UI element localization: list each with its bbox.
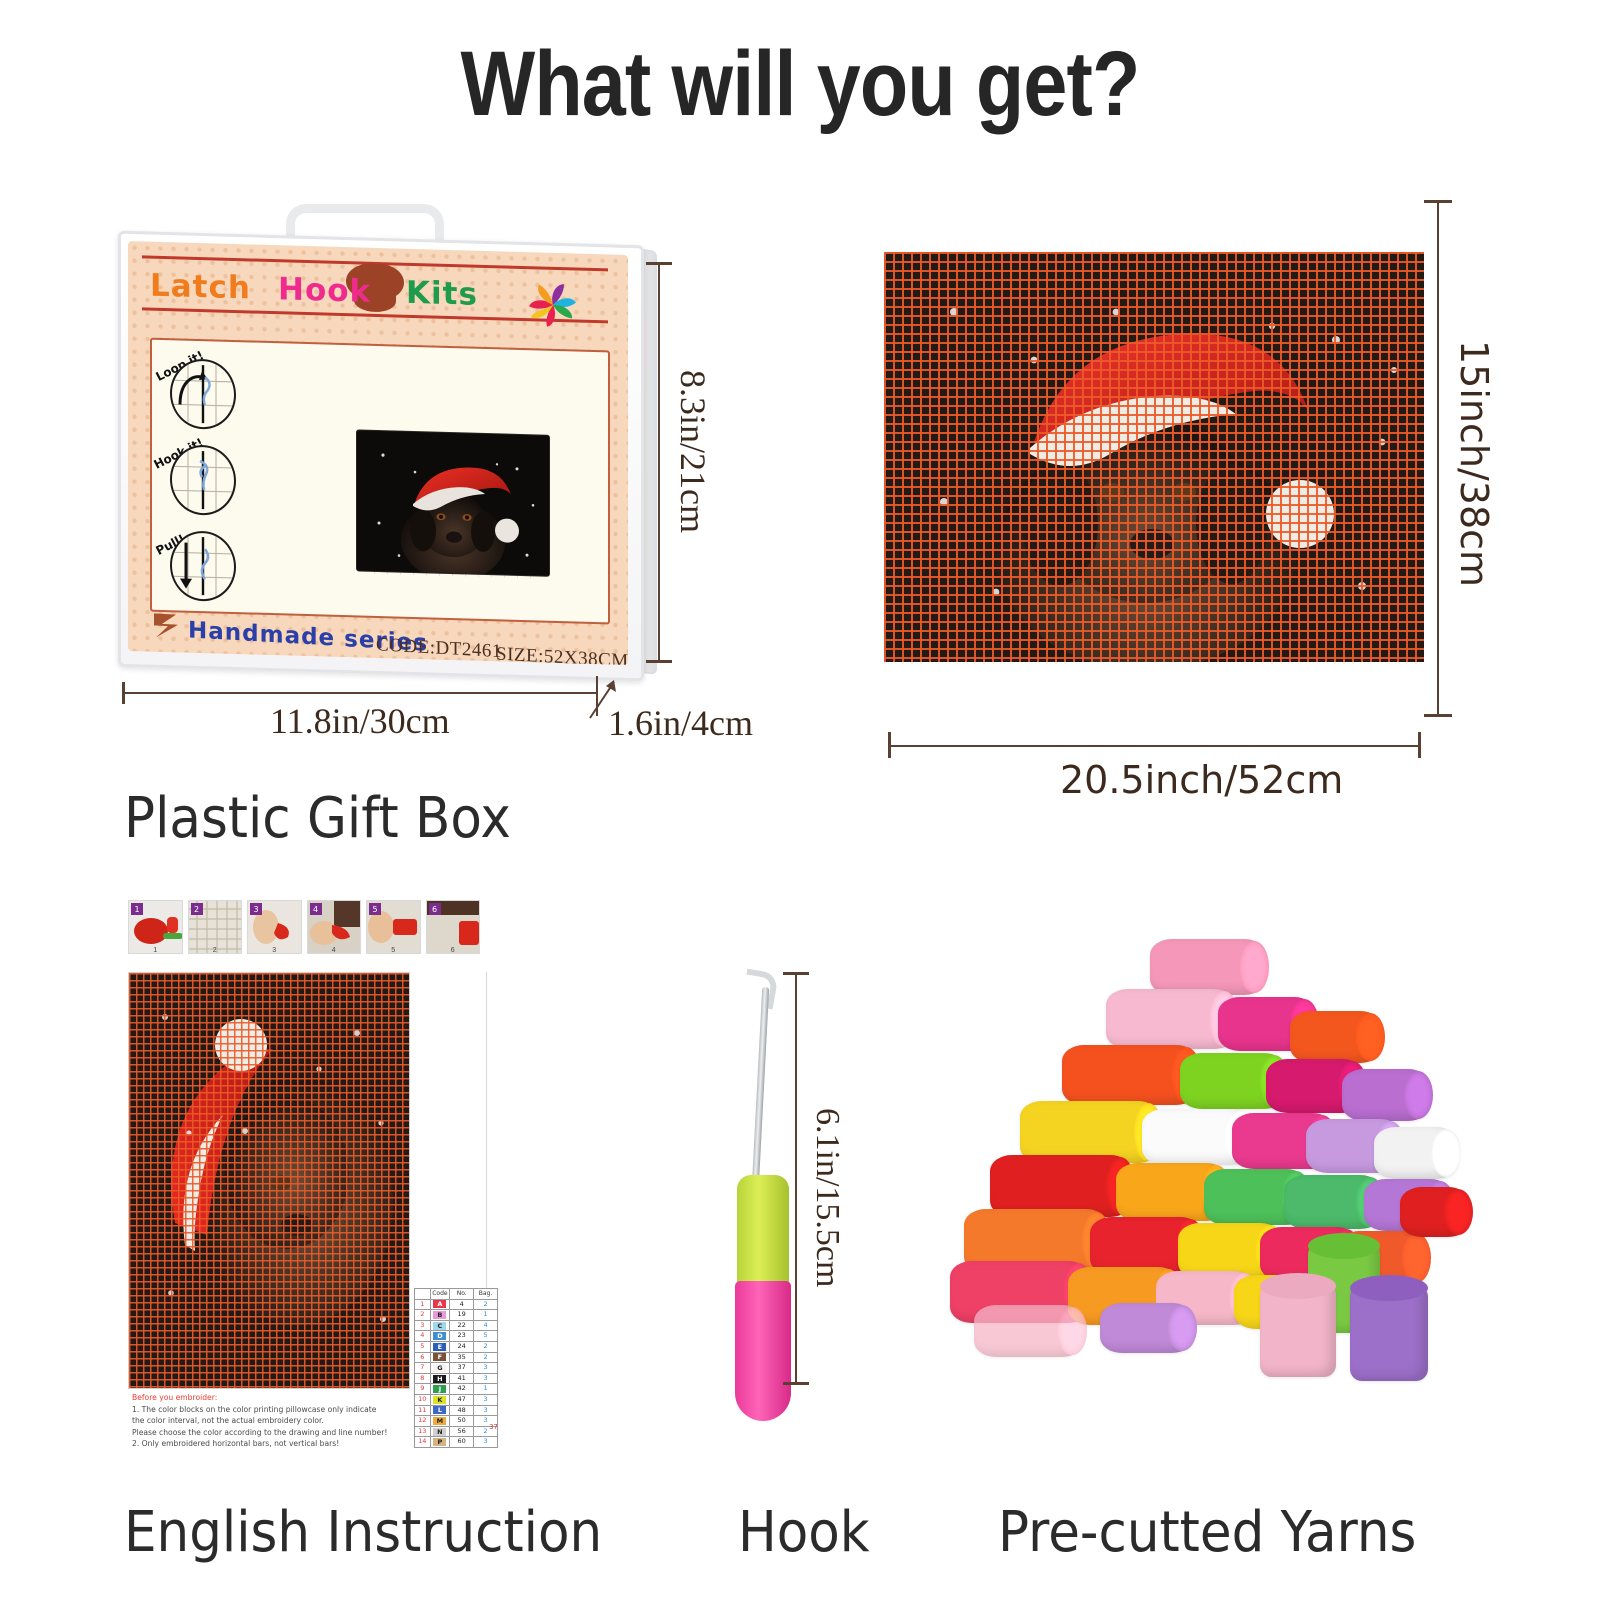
legend-row: 14P603 [415, 1437, 498, 1448]
yarn-bundle [1062, 1045, 1198, 1105]
english-instruction-figure: 1 1 2 2 3 3 [128, 900, 488, 1475]
yarn-bundle [990, 1155, 1132, 1217]
legend-cell-no: 4 [450, 1299, 474, 1310]
box-step-diagram-loop [170, 358, 236, 430]
legend-cell-no: 42 [450, 1384, 474, 1395]
instruction-thumbnail: 2 2 [188, 900, 243, 954]
thumbnail-badge: 2 [191, 903, 203, 915]
pinwheel-logo-icon [523, 274, 583, 336]
thumbnail-badge: 4 [310, 903, 322, 915]
note-line-1: 1. The color blocks on the color printin… [132, 1404, 412, 1416]
note-line-4: 2. Only embroidered horizontal bars, not… [132, 1438, 412, 1450]
legend-header-no: No. [450, 1289, 474, 1300]
legend-cell-code: E [430, 1341, 450, 1352]
note-heading: Before you embroider: [132, 1392, 412, 1404]
legend-cell-index: 3 [415, 1320, 431, 1331]
thumbnail-badge: 1 [131, 903, 143, 915]
legend-cell-index: 5 [415, 1341, 431, 1352]
handmade-ribbon-icon [150, 607, 184, 643]
box-step-diagram-hook [170, 444, 236, 516]
box-height-dimension-label: 8.3in/21cm [672, 370, 714, 533]
legend-cell-no: 35 [450, 1352, 474, 1363]
legend-cell-code: H [430, 1373, 450, 1384]
thumbnail-number: 1 [129, 947, 182, 954]
hook-shaft [752, 987, 769, 1187]
legend-row: 11L483 [415, 1405, 498, 1416]
legend-header-row: Code No. Bag. [415, 1289, 498, 1300]
legend-cell-no: 41 [450, 1373, 474, 1384]
caption-english-instruction: English Instruction [124, 1500, 602, 1565]
hook-figure [700, 965, 880, 1395]
thumbnail-badge: 3 [250, 903, 262, 915]
legend-cell-bag: 3 [474, 1373, 498, 1384]
legend-cell-no: 37 [450, 1363, 474, 1374]
legend-cell-index: 10 [415, 1394, 431, 1405]
box-product-photo [357, 430, 549, 575]
legend-color-swatch: F [433, 1353, 446, 1361]
canvas-mesh [884, 252, 1424, 662]
thumbnail-number: 5 [367, 947, 420, 954]
legend-row: 1A42 [415, 1299, 498, 1310]
legend-total: 37 [414, 1423, 498, 1431]
legend-color-swatch: H [433, 1375, 446, 1383]
legend-cell-code: P [430, 1437, 450, 1448]
legend-cell-index: 11 [415, 1405, 431, 1416]
legend-color-swatch: A [433, 1300, 446, 1308]
legend-cell-index: 7 [415, 1363, 431, 1374]
legend-row: 9J421 [415, 1384, 498, 1395]
legend-cell-bag: 3 [474, 1394, 498, 1405]
legend-color-swatch: C [433, 1322, 446, 1330]
box-front-label: Latch Hook Kits Loop it! [128, 241, 628, 665]
legend-cell-code: J [430, 1384, 450, 1395]
legend-color-swatch: E [433, 1343, 446, 1351]
yarn-bundle [974, 1305, 1084, 1357]
yarn-bundle [1342, 1069, 1430, 1121]
legend-cell-bag: 3 [474, 1363, 498, 1374]
box-width-dimension-label: 11.8in/30cm [270, 700, 450, 742]
legend-cell-bag: 1 [474, 1384, 498, 1395]
infographic-page: What will you get? Latch Hook Kits [0, 0, 1600, 1600]
caption-plastic-gift-box: Plastic Gift Box [124, 786, 511, 851]
note-line-3: Please choose the color according to the… [132, 1427, 412, 1439]
brand-word-kits: Kits [406, 275, 478, 313]
legend-color-swatch: G [433, 1364, 446, 1372]
legend-cell-index: 4 [415, 1331, 431, 1342]
canvas-mesh-grid [884, 252, 1424, 662]
legend-cell-bag: 2 [474, 1341, 498, 1352]
legend-row: 4D235 [415, 1331, 498, 1342]
legend-cell-bag: 1 [474, 1310, 498, 1321]
instruction-thumbnail: 6 6 [426, 900, 481, 954]
legend-row: 3C224 [415, 1320, 498, 1331]
legend-row: 7G373 [415, 1363, 498, 1374]
legend-cell-index: 9 [415, 1384, 431, 1395]
legend-cell-code: L [430, 1405, 450, 1416]
legend-row: 8H413 [415, 1373, 498, 1384]
plastic-gift-box-figure: Latch Hook Kits Loop it! [118, 200, 658, 670]
legend-cell-no: 23 [450, 1331, 474, 1342]
thumbnail-number: 2 [189, 947, 242, 954]
hook-latch-tip [741, 968, 779, 1009]
legend-header-code: Code [430, 1289, 450, 1300]
hook-handle-lower [735, 1281, 791, 1421]
yarn-bundle [1020, 1101, 1160, 1163]
legend-cell-bag: 3 [474, 1405, 498, 1416]
legend-header-bag: Bag. [474, 1289, 498, 1300]
yarn-bundle [1106, 989, 1236, 1049]
legend-color-swatch: J [433, 1385, 446, 1393]
yarn-bundle [1100, 1303, 1194, 1353]
thumbnail-number: 3 [248, 947, 301, 954]
legend-color-swatch: L [433, 1406, 446, 1414]
legend-cell-code: C [430, 1320, 450, 1331]
yarn-bundle [1290, 1011, 1382, 1063]
brand-word-hook: Hook [278, 271, 371, 310]
instruction-note: Before you embroider: 1. The color block… [132, 1392, 412, 1450]
thumbnail-number: 6 [427, 947, 480, 954]
legend-cell-no: 48 [450, 1405, 474, 1416]
hook-length-dimension-line [795, 972, 797, 1384]
legend-cell-code: F [430, 1352, 450, 1363]
canvas-height-dimension-line [1437, 200, 1439, 716]
hook-length-dimension-label: 6.1in/15.5cm [808, 1108, 846, 1287]
legend-cell-no: 22 [450, 1320, 474, 1331]
legend-cell-code: K [430, 1394, 450, 1405]
legend-color-swatch: P [433, 1438, 446, 1446]
legend-cell-index: 8 [415, 1373, 431, 1384]
box-inner-panel: Loop it! Hook it! [150, 338, 610, 625]
legend-color-swatch: K [433, 1396, 446, 1404]
legend-cell-code: G [430, 1363, 450, 1374]
hook-handle-upper [737, 1175, 789, 1285]
legend-header-index [415, 1289, 431, 1300]
legend-cell-code: D [430, 1331, 450, 1342]
page-title: What will you get? [112, 32, 1488, 137]
yarn-bundle [1400, 1187, 1470, 1237]
instruction-thumbnail: 5 5 [366, 900, 421, 954]
legend-cell-bag: 5 [474, 1331, 498, 1342]
pre-cutted-yarns-figure [950, 905, 1470, 1405]
thumbnail-badge: 5 [369, 903, 381, 915]
box-size-text: SIZE:52X38CM [496, 643, 628, 665]
legend-cell-bag: 2 [474, 1352, 498, 1363]
legend-cell-index: 2 [415, 1310, 431, 1321]
legend-cell-no: 60 [450, 1437, 474, 1448]
legend-cell-bag: 2 [474, 1299, 498, 1310]
caption-pre-cutted-yarns: Pre-cutted Yarns [998, 1500, 1416, 1565]
thumbnail-badge: 6 [429, 903, 441, 915]
instruction-printed-canvas [128, 972, 410, 1389]
canvas-width-dimension-label: 20.5inch/52cm [1060, 758, 1343, 802]
legend-cell-index: 6 [415, 1352, 431, 1363]
legend-cell-index: 14 [415, 1437, 431, 1448]
caption-hook: Hook [738, 1500, 870, 1565]
instruction-thumbnail: 4 4 [307, 900, 362, 954]
legend-cell-no: 19 [450, 1310, 474, 1321]
legend-cell-bag: 3 [474, 1437, 498, 1448]
brand-word-latch: Latch [150, 268, 251, 307]
legend-row: 2B191 [415, 1310, 498, 1321]
printed-canvas-figure [884, 252, 1424, 662]
box-width-dimension-line [122, 692, 596, 694]
thumbnail-number: 4 [308, 947, 361, 954]
legend-cell-no: 47 [450, 1394, 474, 1405]
yarn-bundle [1374, 1127, 1458, 1179]
yarn-bundle [1150, 939, 1266, 995]
box-step-diagram-pull [170, 530, 236, 602]
canvas-width-dimension-line [888, 745, 1420, 747]
note-line-2: the color interval, not the actual embro… [132, 1415, 412, 1427]
instruction-thumbnail: 3 3 [247, 900, 302, 954]
box-depth-dimension-label: 1.6in/4cm [608, 702, 753, 744]
legend-color-swatch: B [433, 1311, 446, 1319]
legend-cell-no: 24 [450, 1341, 474, 1352]
legend-cell-code: A [430, 1299, 450, 1310]
legend-row: 5E242 [415, 1341, 498, 1352]
canvas-height-dimension-label: 15inch/38cm [1452, 340, 1496, 587]
legend-color-swatch: D [433, 1332, 446, 1340]
instruction-canvas-grid [129, 973, 409, 1388]
instruction-thumbnail: 1 1 [128, 900, 183, 954]
legend-cell-bag: 4 [474, 1320, 498, 1331]
legend-row: 6F352 [415, 1352, 498, 1363]
instruction-thumbnail-strip: 1 1 2 2 3 3 [128, 900, 480, 958]
legend-cell-index: 1 [415, 1299, 431, 1310]
legend-cell-code: B [430, 1310, 450, 1321]
box-height-dimension-line [658, 262, 660, 662]
legend-row: 10K473 [415, 1394, 498, 1405]
